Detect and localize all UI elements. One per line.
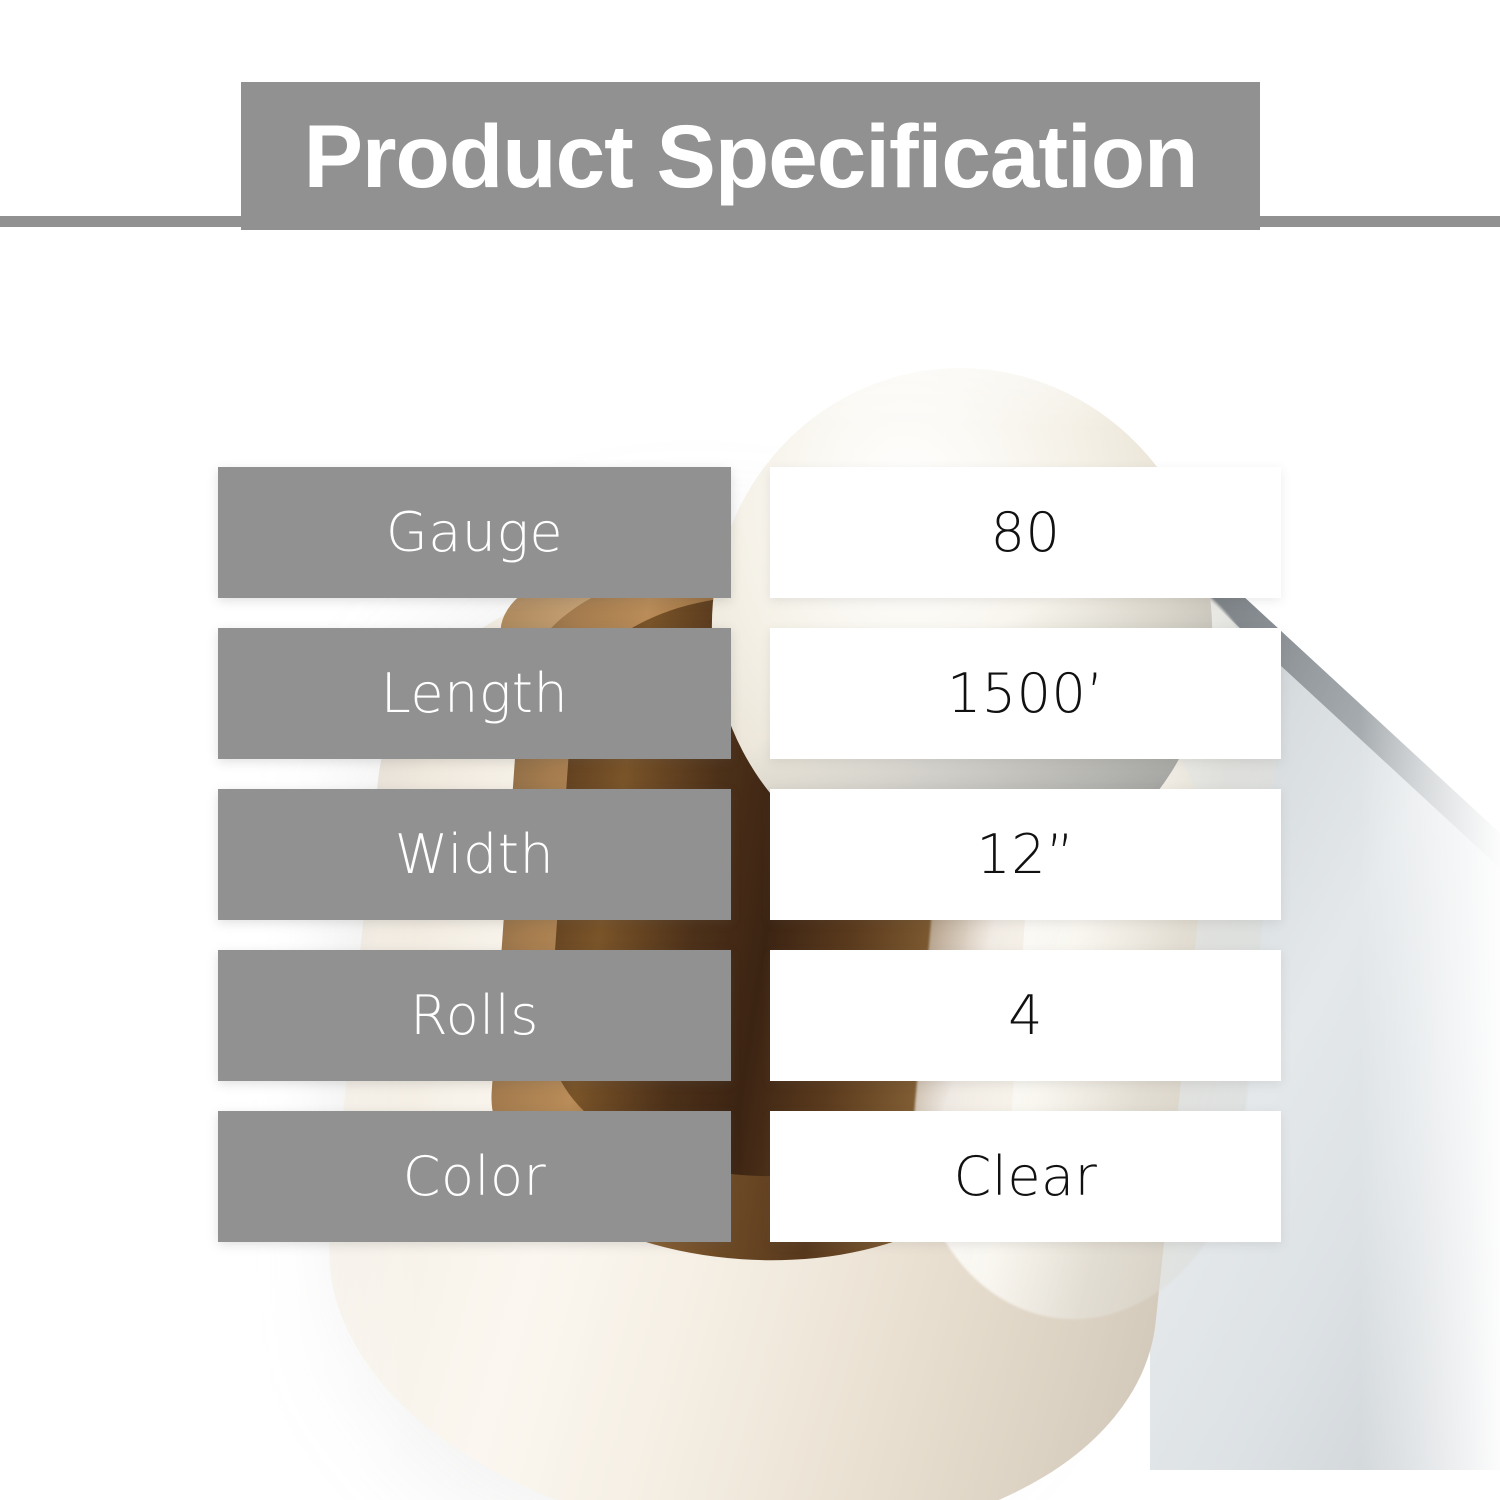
table-row: Width 12” (218, 789, 1281, 920)
table-row: Length 1500’ (218, 628, 1281, 759)
spec-value-width: 12” (770, 789, 1281, 920)
product-spec-graphic: Product Specification Gauge 80 Length 15… (0, 0, 1500, 1500)
title-plate: Product Specification (241, 82, 1260, 230)
table-row: Gauge 80 (218, 467, 1281, 598)
spec-label-rolls: Rolls (218, 950, 731, 1081)
table-row: Rolls 4 (218, 950, 1281, 1081)
spec-value-rolls: 4 (770, 950, 1281, 1081)
header-rule-right (1245, 216, 1500, 227)
spec-label-width: Width (218, 789, 731, 920)
header: Product Specification (0, 70, 1500, 230)
page-title: Product Specification (304, 112, 1198, 201)
spec-label-gauge: Gauge (218, 467, 731, 598)
header-rule-left (0, 216, 260, 227)
specification-table: Gauge 80 Length 1500’ Width 12” Rolls 4 … (218, 467, 1281, 1242)
table-row: Color Clear (218, 1111, 1281, 1242)
spec-value-color: Clear (770, 1111, 1281, 1242)
spec-label-length: Length (218, 628, 731, 759)
spec-label-color: Color (218, 1111, 731, 1242)
spec-value-gauge: 80 (770, 467, 1281, 598)
spec-value-length: 1500’ (770, 628, 1281, 759)
